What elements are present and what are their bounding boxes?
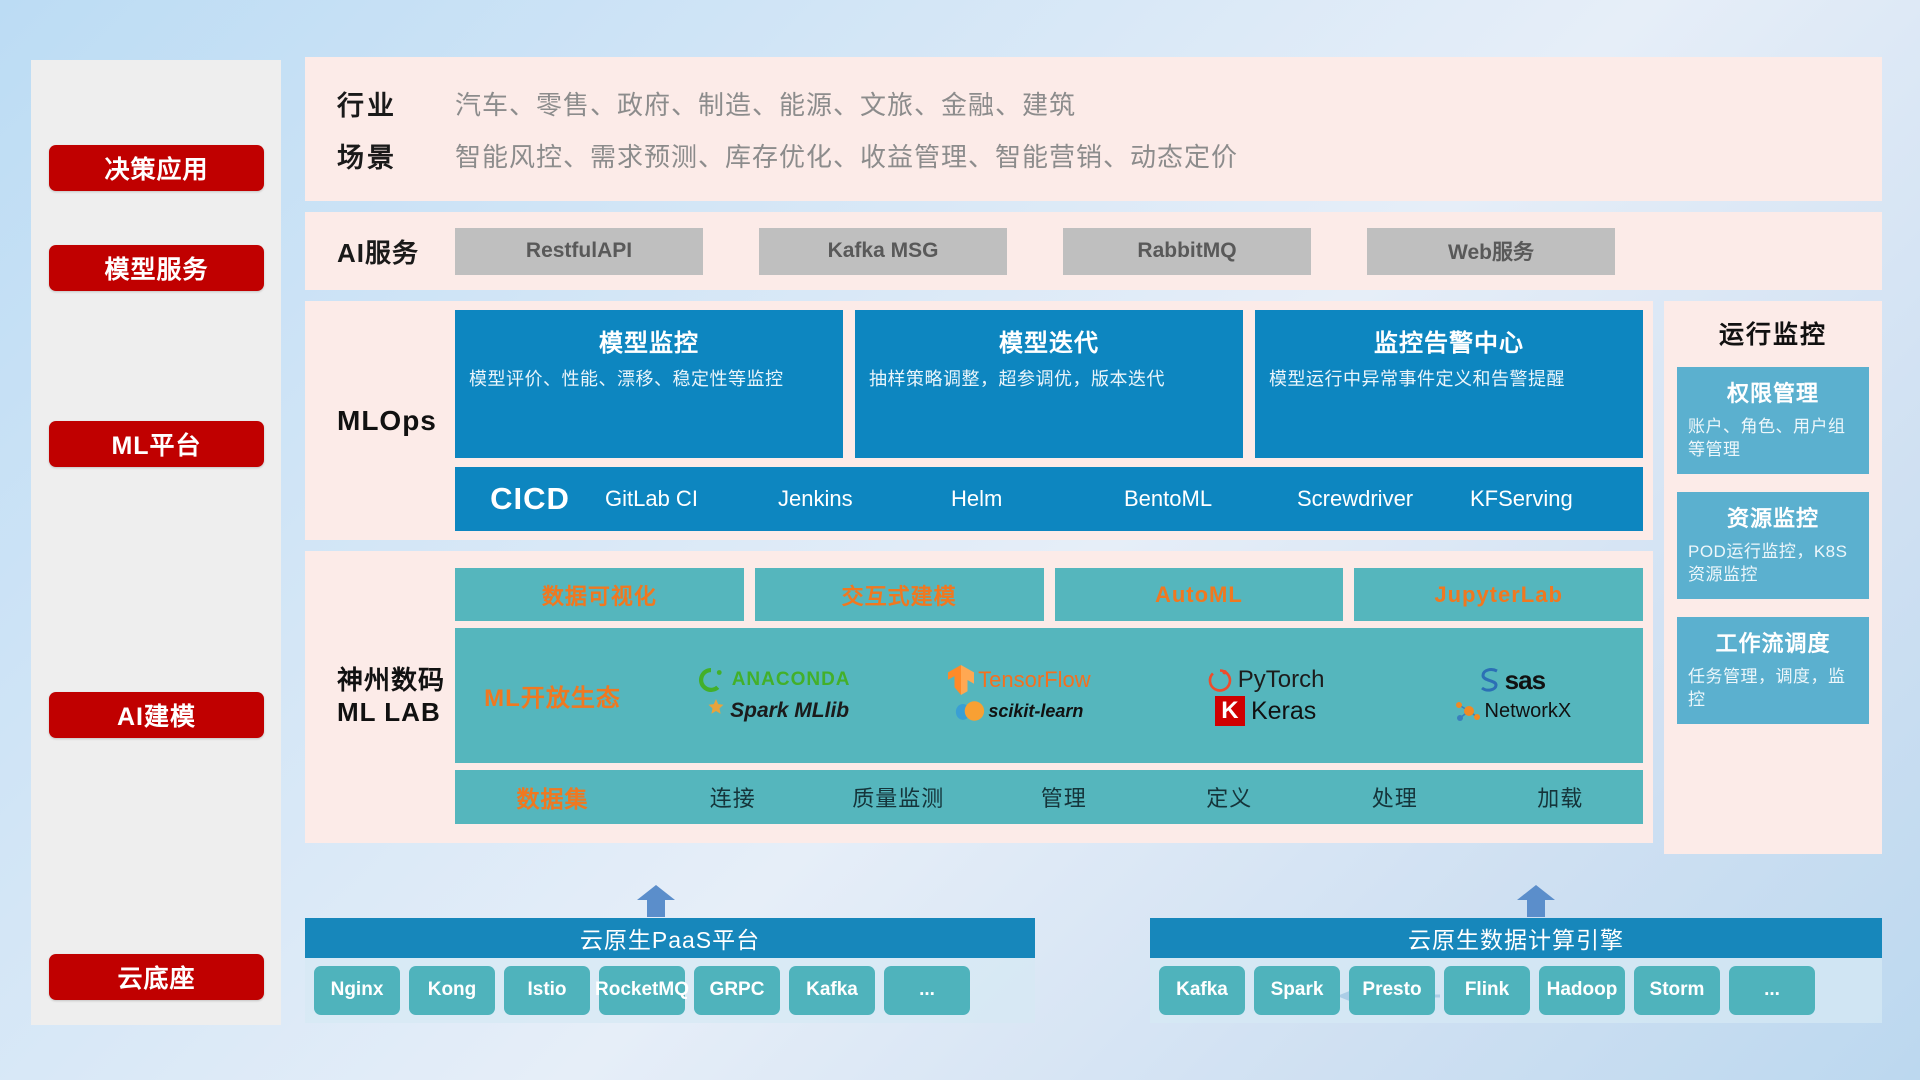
scikit-learn-logo: scikit-learn (955, 697, 1083, 725)
dataset-label: 数据集 (455, 780, 650, 814)
scenario-row: 场景 智能风控、需求预测、库存优化、收益管理、智能营销、动态定价 (337, 129, 1882, 181)
dataset-item-manage[interactable]: 管理 (981, 781, 1147, 813)
cloud-paas-chip-list: Nginx Kong Istio RocketMQ GRPC Kafka ... (305, 958, 1035, 1023)
up-arrow-icon-paas (637, 885, 675, 917)
rail-item-decision-apps[interactable]: 决策应用 (49, 145, 264, 191)
mlops-card-model-monitoring[interactable]: 模型监控 模型评价、性能、漂移、稳定性等监控 (455, 310, 843, 458)
ai-service-chip-web[interactable]: Web服务 (1367, 228, 1615, 275)
industry-label: 行业 (337, 84, 455, 123)
mlops-card-desc: 模型运行中异常事件定义和告警提醒 (1269, 367, 1629, 393)
platform-section: MLOps 模型监控 模型评价、性能、漂移、稳定性等监控 模型迭代 抽样策略调整… (305, 301, 1882, 854)
monitor-card-resource[interactable]: 资源监控 POD运行监控，K8S资源监控 (1677, 492, 1869, 599)
cicd-item-screwdriver[interactable]: Screwdriver (1297, 486, 1470, 511)
dataset-row: 数据集 连接 质量监测 管理 定义 处理 加载 (455, 770, 1643, 824)
cicd-item-gitlab-ci[interactable]: GitLab CI (605, 486, 778, 511)
keras-logo-text: Keras (1251, 697, 1316, 726)
runtime-monitoring-panel: 运行监控 权限管理 账户、角色、用户组等管理 资源监控 POD运行监控，K8S资… (1664, 301, 1882, 854)
ml-lab-label-line1: 神州数码 (337, 664, 455, 697)
sas-logo-text: sas (1505, 665, 1545, 696)
ml-ecosystem-label: ML开放生态 (455, 678, 650, 713)
tool-chip-interactive-modeling[interactable]: 交互式建模 (755, 568, 1044, 621)
tensorflow-logo: TensorFlow (948, 665, 1090, 695)
cloud-chip-kong[interactable]: Kong (409, 966, 495, 1015)
rail-item-ai-modeling[interactable]: AI建模 (49, 692, 264, 738)
industry-row: 行业 汽车、零售、政府、制造、能源、文旅、金融、建筑 (337, 77, 1882, 129)
mlops-label: MLOps (337, 405, 455, 437)
cloud-chip-kafka-engine[interactable]: Kafka (1159, 966, 1245, 1015)
monitor-card-desc: POD运行监控，K8S资源监控 (1688, 540, 1858, 587)
mlops-band: MLOps 模型监控 模型评价、性能、漂移、稳定性等监控 模型迭代 抽样策略调整… (305, 301, 1653, 540)
dataset-item-list: 连接 质量监测 管理 定义 处理 加载 (650, 781, 1643, 813)
scenario-values: 智能风控、需求预测、库存优化、收益管理、智能营销、动态定价 (455, 137, 1238, 174)
cicd-item-kfserving[interactable]: KFServing (1470, 486, 1643, 511)
monitor-card-desc: 任务管理，调度，监控 (1688, 665, 1858, 712)
rail-item-ml-platform[interactable]: ML平台 (49, 421, 264, 467)
rail-item-cloud-base[interactable]: 云底座 (49, 954, 264, 1000)
cloud-chip-nginx[interactable]: Nginx (314, 966, 400, 1015)
cloud-chip-grpc[interactable]: GRPC (694, 966, 780, 1015)
cicd-item-helm[interactable]: Helm (951, 486, 1124, 511)
mlops-content: 模型监控 模型评价、性能、漂移、稳定性等监控 模型迭代 抽样策略调整，超参调优，… (455, 310, 1643, 531)
anaconda-logo-text: ANACONDA (732, 669, 851, 691)
tensorflow-logo-text: TensorFlow (978, 667, 1090, 693)
mlops-card-title: 监控告警中心 (1269, 323, 1629, 358)
platform-main-column: MLOps 模型监控 模型评价、性能、漂移、稳定性等监控 模型迭代 抽样策略调整… (305, 301, 1653, 854)
cloud-chip-rocketmq[interactable]: RocketMQ (599, 966, 685, 1015)
tool-chip-automl[interactable]: AutoML (1055, 568, 1344, 621)
monitor-card-title: 权限管理 (1688, 376, 1858, 408)
anaconda-logo: ANACONDA (696, 665, 851, 695)
keras-logo: K Keras (1215, 696, 1316, 726)
cicd-item-bentoml[interactable]: BentoML (1124, 486, 1297, 511)
scenario-label: 场景 (337, 136, 455, 175)
ai-modeling-content: 数据可视化 交互式建模 AutoML JupyterLab ML开放生态 (455, 568, 1643, 824)
industry-values: 汽车、零售、政府、制造、能源、文旅、金融、建筑 (455, 85, 1076, 122)
monitor-card-workflow[interactable]: 工作流调度 任务管理，调度，监控 (1677, 617, 1869, 724)
cicd-item-jenkins[interactable]: Jenkins (778, 486, 951, 511)
mlops-card-model-iteration[interactable]: 模型迭代 抽样策略调整，超参调优，版本迭代 (855, 310, 1243, 458)
cloud-paas-block: 云原生PaaS平台 Nginx Kong Istio RocketMQ GRPC… (305, 918, 1035, 1023)
dataset-item-quality[interactable]: 质量监测 (816, 781, 982, 813)
cloud-chip-more[interactable]: ... (884, 966, 970, 1015)
mlops-card-alert-center[interactable]: 监控告警中心 模型运行中异常事件定义和告警提醒 (1255, 310, 1643, 458)
ai-service-label: AI服务 (337, 233, 455, 270)
dataset-item-define[interactable]: 定义 (1147, 781, 1313, 813)
cloud-chip-kafka[interactable]: Kafka (789, 966, 875, 1015)
dataset-item-process[interactable]: 处理 (1312, 781, 1478, 813)
monitor-card-title: 资源监控 (1688, 501, 1858, 533)
mlops-card-desc: 抽样策略调整，超参调优，版本迭代 (869, 367, 1229, 393)
ml-ecosystem-logo-grid: ANACONDA TensorFlow (650, 665, 1643, 727)
cicd-label: CICD (455, 481, 605, 517)
cloud-engine-block: 云原生数据计算引擎 Kafka Spark Presto Flink Hadoo… (1150, 918, 1882, 1023)
dataset-item-connect[interactable]: 连接 (650, 781, 816, 813)
ml-lab-label: 神州数码 ML LAB (337, 664, 455, 729)
cicd-item-list: GitLab CI Jenkins Helm BentoML Screwdriv… (605, 486, 1643, 511)
mlops-card-title: 模型迭代 (869, 323, 1229, 358)
mlops-card-list: 模型监控 模型评价、性能、漂移、稳定性等监控 模型迭代 抽样策略调整，超参调优，… (455, 310, 1643, 458)
ai-service-chip-restfulapi[interactable]: RestfulAPI (455, 228, 703, 275)
ml-ecosystem-row: ML开放生态 ANACONDA (455, 628, 1643, 763)
monitor-card-desc: 账户、角色、用户组等管理 (1688, 415, 1858, 462)
modeling-tool-list: 数据可视化 交互式建模 AutoML JupyterLab (455, 568, 1643, 621)
mlops-card-desc: 模型评价、性能、漂移、稳定性等监控 (469, 367, 829, 393)
decision-apps-band: 行业 汽车、零售、政府、制造、能源、文旅、金融、建筑 场景 智能风控、需求预测、… (305, 57, 1882, 201)
runtime-monitoring-title: 运行监控 (1677, 315, 1869, 351)
cloud-chip-istio[interactable]: Istio (504, 966, 590, 1015)
cloud-engine-chip-list: Kafka Spark Presto Flink Hadoop Storm ..… (1150, 958, 1882, 1023)
sas-logo: sas (1479, 665, 1545, 696)
ai-service-chip-kafka-msg[interactable]: Kafka MSG (759, 228, 1007, 275)
cloud-chip-storm[interactable]: Storm (1634, 966, 1720, 1015)
ai-service-chip-rabbitmq[interactable]: RabbitMQ (1063, 228, 1311, 275)
cloud-chip-spark[interactable]: Spark (1254, 966, 1340, 1015)
spark-mllib-logo: Spark MLlib (697, 697, 849, 725)
up-arrow-icon-engine (1517, 885, 1555, 917)
scikit-learn-logo-text: scikit-learn (988, 701, 1083, 722)
cloud-foundation-section: 云原生PaaS平台 Nginx Kong Istio RocketMQ GRPC… (305, 890, 1882, 1040)
tool-chip-data-visualization[interactable]: 数据可视化 (455, 568, 744, 621)
dataset-item-load[interactable]: 加载 (1478, 781, 1644, 813)
cicd-bar: CICD GitLab CI Jenkins Helm BentoML Scre… (455, 467, 1643, 531)
keras-mark: K (1215, 696, 1245, 726)
spark-mllib-logo-text: Spark MLlib (730, 699, 849, 723)
ai-service-band: AI服务 RestfulAPI Kafka MSG RabbitMQ Web服务 (305, 212, 1882, 290)
ai-modeling-band: 神州数码 ML LAB 数据可视化 交互式建模 AutoML JupyterLa… (305, 551, 1653, 843)
layer-rail: 决策应用 模型服务 ML平台 AI建模 云底座 (31, 60, 281, 1025)
cloud-chip-hadoop[interactable]: Hadoop (1539, 966, 1625, 1015)
pytorch-logo: PyTorch (1207, 666, 1325, 694)
monitor-card-permission[interactable]: 权限管理 账户、角色、用户组等管理 (1677, 367, 1869, 474)
cloud-chip-more-engine[interactable]: ... (1729, 966, 1815, 1015)
pytorch-logo-text: PyTorch (1238, 666, 1325, 694)
ml-lab-label-line2: ML LAB (337, 696, 455, 729)
cloud-chip-presto[interactable]: Presto (1349, 966, 1435, 1015)
cloud-engine-title: 云原生数据计算引擎 (1150, 918, 1882, 958)
monitor-card-title: 工作流调度 (1688, 626, 1858, 658)
ai-service-chip-list: RestfulAPI Kafka MSG RabbitMQ Web服务 (455, 228, 1882, 275)
networkx-logo-text: NetworkX (1485, 701, 1572, 721)
rail-item-model-service[interactable]: 模型服务 (49, 245, 264, 291)
tool-chip-jupyterlab[interactable]: JupyterLab (1354, 568, 1643, 621)
cloud-paas-title: 云原生PaaS平台 (305, 918, 1035, 958)
mlops-card-title: 模型监控 (469, 323, 829, 358)
cloud-chip-flink[interactable]: Flink (1444, 966, 1530, 1015)
networkx-logo: NetworkX (1453, 697, 1572, 725)
